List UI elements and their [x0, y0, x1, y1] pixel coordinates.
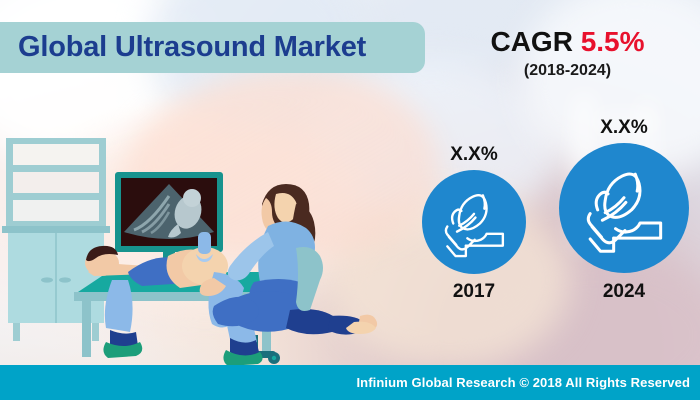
stat-percent-2017: X.X% — [400, 145, 548, 164]
ultrasound-probe-icon — [437, 185, 511, 259]
copyright-text: Infinium Global Research © 2018 All Righ… — [356, 375, 690, 390]
ultrasound-probe-icon — [577, 161, 671, 255]
ultrasound-scene-illustration — [0, 120, 400, 370]
cagr-headline: CAGR 5.5% — [455, 26, 680, 58]
scene-svg — [0, 120, 400, 370]
cagr-period: (2018-2024) — [455, 62, 680, 80]
cagr-block: CAGR 5.5% (2018-2024) — [455, 26, 680, 80]
cagr-label: CAGR — [490, 26, 572, 57]
medical-cabinet-icon — [2, 138, 110, 341]
stat-circle-2024 — [559, 143, 689, 273]
infographic-canvas: Global Ultrasound Market CAGR 5.5% (2018… — [0, 0, 700, 400]
stat-circle-2017 — [422, 170, 526, 274]
stat-year-2017: 2017 — [400, 282, 548, 301]
footer-bar: Infinium Global Research © 2018 All Righ… — [0, 365, 700, 400]
page-title: Global Ultrasound Market — [18, 31, 366, 64]
stat-2024: X.X% 2024 — [548, 118, 700, 301]
title-band: Global Ultrasound Market — [0, 22, 425, 73]
stat-2017: X.X% 2017 — [400, 145, 548, 301]
stat-year-2024: 2024 — [548, 282, 700, 301]
cagr-value: 5.5% — [581, 26, 645, 57]
stat-percent-2024: X.X% — [548, 118, 700, 137]
